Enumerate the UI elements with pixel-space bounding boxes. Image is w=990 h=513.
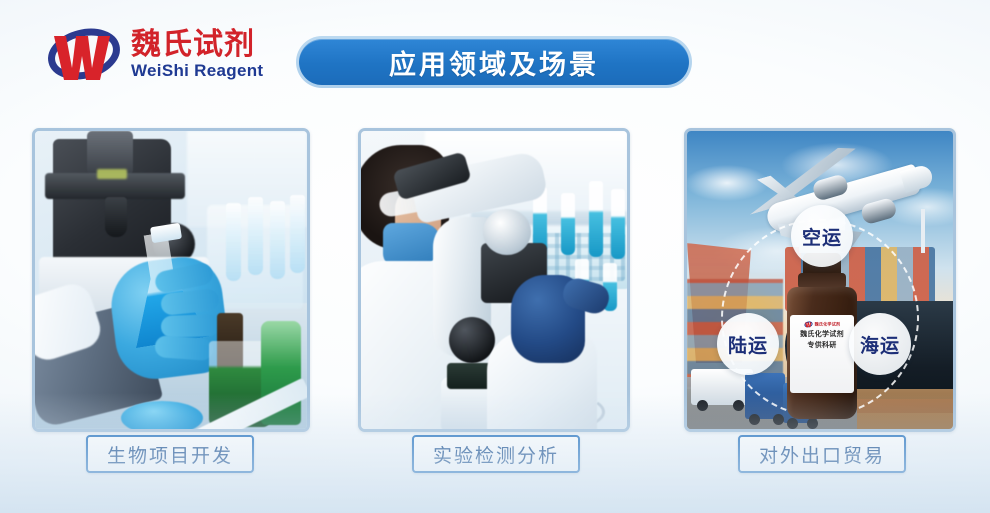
brand-name-cn: 魏氏试剂 [131,29,263,61]
card-caption-bio-project-development: 生物项目开发 [86,435,254,473]
bottle-label-line-2: 专供科研 [807,342,836,351]
card-caption-label: 实验检测分析 [433,441,559,468]
test-tube [589,181,603,257]
truck-wheel [733,400,744,411]
bottle-label-line-1: 魏氏化学试剂 [800,331,844,340]
truck-wheel [773,414,784,425]
poster-header: 魏氏试剂 WeiShi Reagent 应用领域及场景 [0,0,990,122]
photo-lab-flask [35,131,307,429]
freight-mode-label-land: 陆运 [728,331,768,358]
weishi-w-swoosh-logo-icon [804,321,813,328]
photo-microscope-researcher [361,131,627,429]
bottle-label-brand-row: 魏氏化学试剂 [804,321,840,328]
bottle-label-brand: 魏氏化学试剂 [815,322,841,328]
card-caption-label: 对外出口贸易 [759,441,885,468]
brand-lockup: 魏氏试剂 WeiShi Reagent [46,22,263,88]
test-tube [561,193,575,255]
weishi-w-swoosh-logo-icon [46,22,122,88]
card-caption-label: 生物项目开发 [107,441,233,468]
freight-mode-badge-sea: 海运 [849,313,911,375]
test-tube [290,195,305,273]
freight-mode-badge-air: 空运 [791,205,853,267]
card-bio-project-development [32,128,310,432]
page-title: 应用领域及场景 [389,43,599,82]
bottle-label: 魏氏化学试剂 魏氏化学试剂 专供科研 [790,315,854,393]
card-export-trade: 魏氏化学试剂 魏氏化学试剂 专供科研 空运 陆运 海运 [684,128,956,432]
test-tube [226,203,241,281]
application-cards-row: 魏氏化学试剂 魏氏化学试剂 专供科研 空运 陆运 海运 [0,128,990,434]
brand-text: 魏氏试剂 WeiShi Reagent [131,27,263,83]
brand-name-en: WeiShi Reagent [131,60,263,83]
petri-dish-blue [121,401,203,429]
freight-mode-label-air: 空运 [802,223,842,250]
microscope-slide [97,169,127,179]
truck-wheel [749,414,760,425]
section-title-pill-inner: 应用领域及场景 [299,39,689,85]
photo-logistics-collage: 魏氏化学试剂 魏氏化学试剂 专供科研 空运 陆运 海运 [687,131,953,429]
glove-finger [161,314,220,338]
reagent-bottle: 魏氏化学试剂 魏氏化学试剂 专供科研 [785,253,859,421]
microscope-objective [105,197,127,237]
section-title-pill: 应用领域及场景 [296,36,692,88]
microscope-focus-knob [449,317,495,363]
test-tube [611,189,625,259]
card-caption-experimental-testing-analysis: 实验检测分析 [412,435,580,473]
freight-mode-label-sea: 海运 [860,331,900,358]
card-caption-export-trade: 对外出口贸易 [738,435,906,473]
test-tube [248,197,263,275]
freight-mode-badge-land: 陆运 [717,313,779,375]
test-tube [270,201,285,279]
microscope-nosepiece [483,209,531,255]
glove-finger [154,335,213,361]
card-experimental-testing-analysis [358,128,630,432]
truck-wheel [697,400,708,411]
poster-canvas: 魏氏试剂 WeiShi Reagent 应用领域及场景 [0,0,990,513]
